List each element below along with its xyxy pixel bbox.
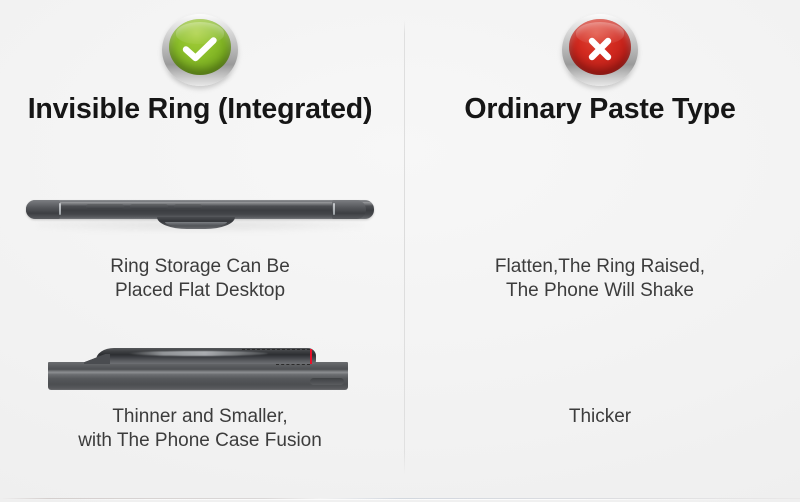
- phone-case-fusion-thickness: [48, 340, 358, 392]
- phone-side-button-1: [86, 204, 124, 209]
- panel-ordinary-paste: Ordinary Paste Type Flatten,The Ring Rai…: [400, 0, 800, 502]
- panel-invisible-ring: Invisible Ring (Integrated) Ring Storage…: [0, 0, 400, 502]
- bottom-highlight-line: [0, 499, 800, 500]
- phone-end-left: [26, 200, 60, 219]
- figure-caption-1-left: Ring Storage Can Be Placed Flat Desktop: [0, 255, 400, 303]
- caption-line: Flatten,The Ring Raised,: [400, 255, 800, 279]
- bottom-border-line: [0, 498, 800, 499]
- case-notch: [310, 378, 344, 385]
- figure-caption-1-right: Flatten,The Ring Raised, The Phone Will …: [400, 255, 800, 303]
- caption-line: The Phone Will Shake: [400, 279, 800, 303]
- figure-caption-2-right: Thicker: [400, 405, 800, 429]
- x-circle-icon: [562, 14, 638, 86]
- measure-guide-bottom: [276, 364, 310, 365]
- measure-guide-top: [242, 349, 310, 350]
- caption-line: Placed Flat Desktop: [0, 279, 400, 303]
- comparison-infographic: Invisible Ring (Integrated) Ring Storage…: [0, 0, 800, 502]
- phone-side-button-2: [130, 204, 168, 209]
- phone-side-button-3: [174, 204, 202, 209]
- lid-ramp: [84, 354, 110, 364]
- check-circle-icon: [162, 14, 238, 86]
- lid-gloss-highlight: [128, 351, 268, 356]
- figure-caption-2-left: Thinner and Smaller, with The Phone Case…: [0, 405, 400, 453]
- caption-line: Thinner and Smaller,: [0, 405, 400, 429]
- page-title-right: Ordinary Paste Type: [400, 93, 800, 126]
- caption-line: Thicker: [400, 405, 800, 429]
- check-glyph: [162, 14, 238, 86]
- caption-line: Ring Storage Can Be: [0, 255, 400, 279]
- verdict-badge-positive: [157, 12, 243, 92]
- cross-glyph: [562, 14, 638, 86]
- caption-line: with The Phone Case Fusion: [0, 429, 400, 453]
- phone-seam-right: [333, 203, 335, 215]
- phone-end-right: [332, 200, 366, 219]
- verdict-badge-negative: [557, 12, 643, 92]
- page-title-left: Invisible Ring (Integrated): [0, 93, 400, 126]
- phone-seam-left: [59, 203, 61, 215]
- thickness-marker: [310, 349, 312, 364]
- phone-case-slab: [48, 362, 348, 390]
- flat-phone-side-view: [18, 186, 382, 244]
